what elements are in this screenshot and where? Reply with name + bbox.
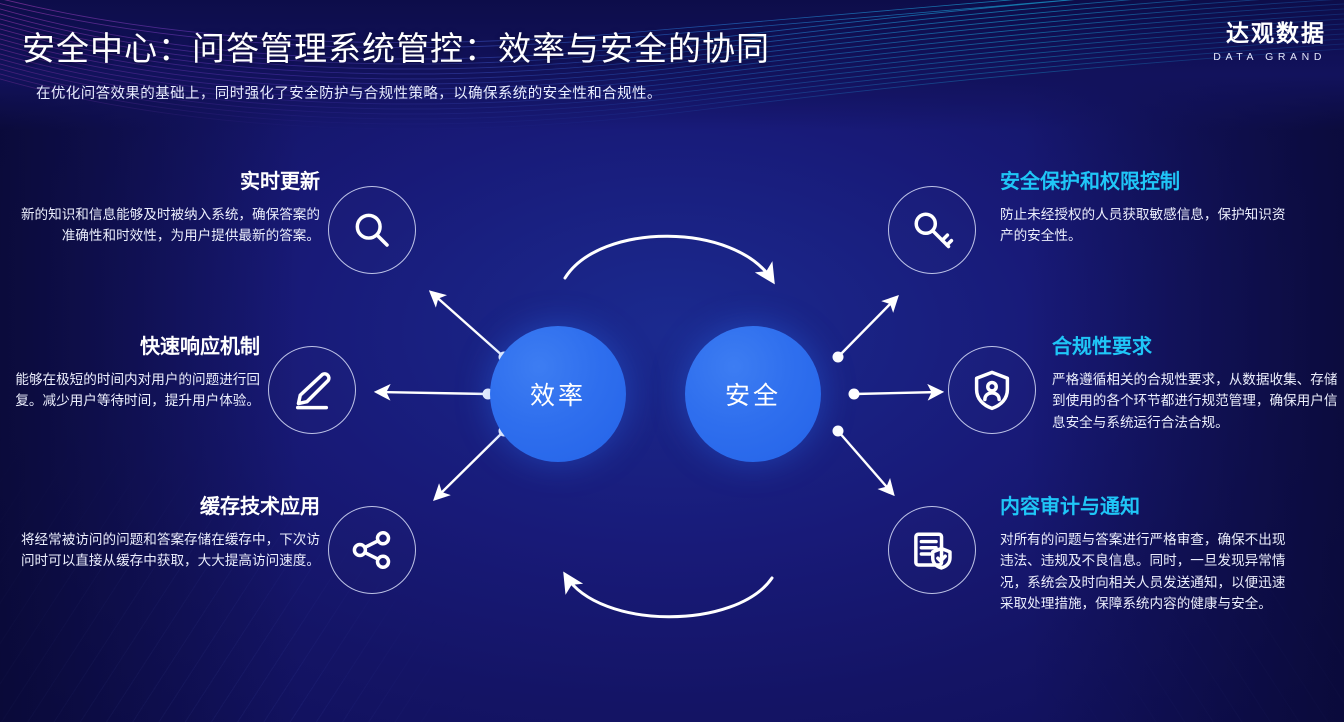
page-title: 安全中心：问答管理系统管控：效率与安全的协同 (22, 22, 770, 70)
arrow-security-to-audit (838, 431, 892, 493)
node-text-cache: 缓存技术应用 将经常被访问的问题和答案存储在缓存中，下次访问时可以直接从缓存中获… (10, 495, 320, 572)
node-desc-realtime: 新的知识和信息能够及时被纳入系统，确保答案的准确性和时效性，为用户提供最新的答案… (10, 204, 320, 247)
arrow-security-to-compliance (854, 392, 940, 394)
arrow-efficiency-to-realtime (432, 293, 504, 357)
brand-name-cn: 达观数据 (1213, 14, 1326, 48)
node-desc-permission: 防止未经授权的人员获取敏感信息，保护知识资产的安全性。 (1000, 204, 1292, 247)
hub-security[interactable]: 安全 (685, 326, 821, 462)
header: 安全中心：问答管理系统管控：效率与安全的协同 在优化问答效果的基础上，同时强化了… (0, 0, 1344, 130)
hub-efficiency-label: 效率 (530, 376, 586, 412)
node-text-permission: 安全保护和权限控制 防止未经授权的人员获取敏感信息，保护知识资产的安全性。 (1000, 170, 1292, 247)
node-title-compliance: 合规性要求 (1052, 335, 1340, 360)
page-subtitle: 在优化问答效果的基础上，同时强化了安全防护与合规性策略，以确保系统的安全性和合规… (36, 82, 662, 103)
hub-security-label: 安全 (725, 376, 781, 412)
brand-logo: 达观数据 DATA GRAND (1213, 14, 1326, 63)
key-icon[interactable] (888, 186, 976, 274)
magnifier-icon[interactable] (328, 186, 416, 274)
node-text-realtime: 实时更新 新的知识和信息能够及时被纳入系统，确保答案的准确性和时效性，为用户提供… (10, 170, 320, 247)
connector-dot (849, 389, 860, 400)
brand-name-en: DATA GRAND (1213, 51, 1326, 63)
node-title-response: 快速响应机制 (10, 335, 260, 360)
pencil-icon[interactable] (268, 346, 356, 434)
connector-dot (833, 352, 844, 363)
node-title-permission: 安全保护和权限控制 (1000, 170, 1292, 195)
arrow-efficiency-to-cache (436, 431, 504, 498)
hub-efficiency[interactable]: 效率 (490, 326, 626, 462)
node-desc-audit: 对所有的问题与答案进行严格审查，确保不出现违法、违规及不良信息。同时，一旦发现异… (1000, 529, 1296, 615)
arrow-cycle-bottom (566, 576, 772, 617)
node-desc-response: 能够在极短的时间内对用户的问题进行回复。减少用户等待时间，提升用户体验。 (10, 369, 260, 412)
document-shield-check-icon[interactable] (888, 506, 976, 594)
node-text-audit: 内容审计与通知 对所有的问题与答案进行严格审查，确保不出现违法、违规及不良信息。… (1000, 495, 1296, 615)
arrow-security-to-permission (838, 298, 896, 357)
shield-person-icon[interactable] (948, 346, 1036, 434)
node-text-compliance: 合规性要求 严格遵循相关的合规性要求，从数据收集、存储到使用的各个环节都进行规范… (1052, 335, 1340, 433)
node-desc-cache: 将经常被访问的问题和答案存储在缓存中，下次访问时可以直接从缓存中获取，大大提高访… (10, 529, 320, 572)
node-title-audit: 内容审计与通知 (1000, 495, 1296, 520)
share-nodes-icon[interactable] (328, 506, 416, 594)
diagram: 效率 安全 实时更新 新的知识和信息能够及时被纳入系统，确保答案的准确性和时效性… (0, 130, 1344, 722)
node-text-response: 快速响应机制 能够在极短的时间内对用户的问题进行回复。减少用户等待时间，提升用户… (10, 335, 260, 412)
arrow-efficiency-to-response (378, 392, 488, 394)
connector-dot (833, 426, 844, 437)
arrow-cycle-top (565, 236, 772, 280)
node-title-realtime: 实时更新 (10, 170, 320, 195)
node-title-cache: 缓存技术应用 (10, 495, 320, 520)
node-desc-compliance: 严格遵循相关的合规性要求，从数据收集、存储到使用的各个环节都进行规范管理，确保用… (1052, 369, 1340, 433)
